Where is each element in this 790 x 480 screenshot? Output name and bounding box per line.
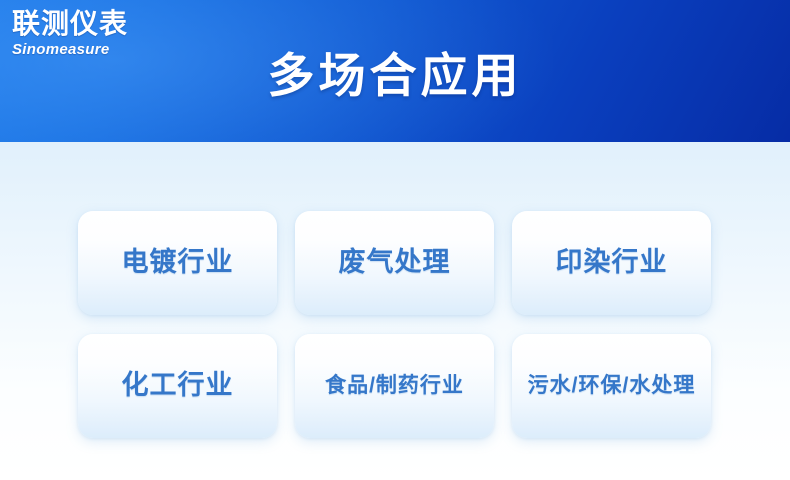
brand-logo: 联测仪表 Sinomeasure: [12, 8, 162, 59]
scenario-card-label: 污水/环保/水处理: [528, 374, 696, 397]
scenario-card-sewage-environment-water[interactable]: 污水/环保/水处理: [512, 334, 711, 438]
application-scenarios-page: 联测仪表 Sinomeasure 多场合应用 电镀行业 废气处理 印染行业 化工…: [0, 0, 790, 480]
scenario-card-label: 食品/制药行业: [325, 374, 464, 397]
scenario-card-label: 废气处理: [339, 248, 451, 278]
scenario-card-grid: 电镀行业 废气处理 印染行业 化工行业 食品/制药行业 污水/环保/水处理: [78, 211, 713, 438]
header-banner: 联测仪表 Sinomeasure 多场合应用: [0, 0, 790, 142]
scenario-card-label: 化工行业: [122, 371, 234, 401]
scenario-card-printing-dyeing[interactable]: 印染行业: [512, 211, 711, 315]
scenario-card-food-pharma[interactable]: 食品/制药行业: [295, 334, 494, 438]
scenario-card-label: 电镀行业: [122, 248, 234, 278]
scenario-card-waste-gas[interactable]: 废气处理: [295, 211, 494, 315]
scenario-card-chemical[interactable]: 化工行业: [78, 334, 277, 438]
brand-logo-chinese: 联测仪表: [12, 8, 162, 40]
brand-logo-english: Sinomeasure: [12, 41, 162, 59]
scenario-card-electroplating[interactable]: 电镀行业: [78, 211, 277, 315]
scenario-card-label: 印染行业: [556, 248, 668, 278]
